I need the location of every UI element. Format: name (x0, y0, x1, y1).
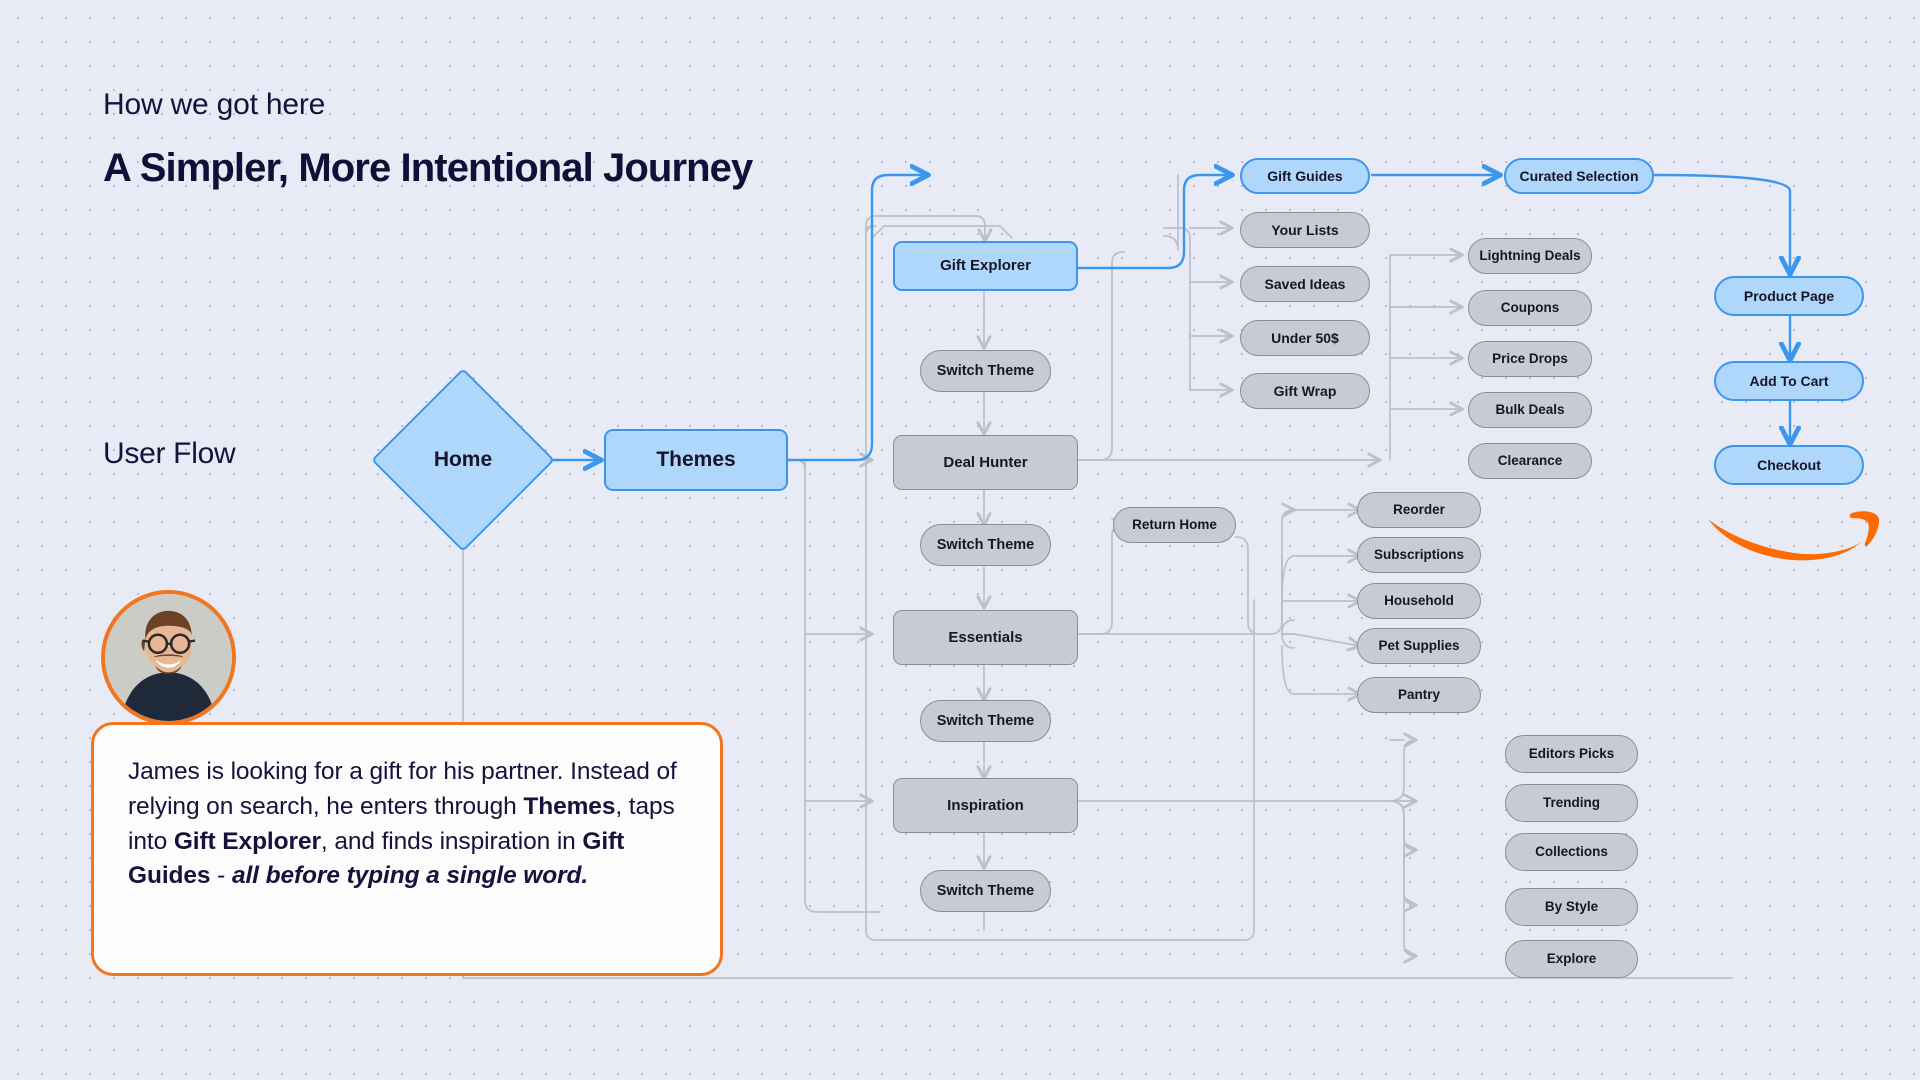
flow-node-subscriptions-label: Subscriptions (1374, 547, 1464, 563)
flow-node-trending[interactable]: Trending (1505, 784, 1638, 822)
flow-node-reorder-label: Reorder (1393, 502, 1445, 518)
flow-node-lightning-deals-label: Lightning Deals (1479, 248, 1580, 264)
flow-node-clearance[interactable]: Clearance (1468, 443, 1592, 479)
flow-node-return-home[interactable]: Return Home (1113, 507, 1236, 543)
flow-node-home[interactable]: Home (398, 395, 528, 525)
flow-node-explore[interactable]: Explore (1505, 940, 1638, 978)
flow-node-coupons-label: Coupons (1501, 300, 1560, 316)
flow-node-price-drops-label: Price Drops (1492, 351, 1568, 367)
flow-node-switch-theme-2[interactable]: Switch Theme (920, 524, 1051, 566)
flow-node-themes-label: Themes (656, 448, 735, 472)
callout-italic-emphasis: all before typing a single word. (232, 862, 588, 889)
flow-node-switch-theme-4-label: Switch Theme (937, 883, 1035, 900)
callout-bold-gift-explorer: Gift Explorer (174, 828, 321, 855)
flow-node-editors-picks[interactable]: Editors Picks (1505, 735, 1638, 773)
flow-node-return-home-label: Return Home (1132, 517, 1217, 533)
flow-node-your-lists[interactable]: Your Lists (1240, 212, 1370, 248)
callout-part-4: - (210, 862, 231, 889)
flow-node-saved-ideas[interactable]: Saved Ideas (1240, 266, 1370, 302)
flow-node-switch-theme-2-label: Switch Theme (937, 537, 1035, 554)
flow-node-curated-selection[interactable]: Curated Selection (1504, 158, 1654, 194)
flow-node-coupons[interactable]: Coupons (1468, 290, 1592, 326)
flow-node-switch-theme-4[interactable]: Switch Theme (920, 870, 1051, 912)
flow-node-gift-guides-label: Gift Guides (1267, 168, 1342, 184)
flow-node-trending-label: Trending (1543, 795, 1600, 811)
persona-callout-text: James is looking for a gift for his part… (128, 755, 686, 894)
flow-node-add-to-cart-label: Add To Cart (1749, 373, 1828, 389)
flow-node-pet-supplies-label: Pet Supplies (1378, 638, 1459, 654)
flow-node-pantry-label: Pantry (1398, 687, 1440, 703)
flow-node-price-drops[interactable]: Price Drops (1468, 341, 1592, 377)
flow-node-gift-wrap-label: Gift Wrap (1274, 383, 1337, 399)
flow-node-gift-wrap[interactable]: Gift Wrap (1240, 373, 1370, 409)
flow-node-switch-theme-1[interactable]: Switch Theme (920, 350, 1051, 392)
flow-node-by-style[interactable]: By Style (1505, 888, 1638, 926)
flow-node-switch-theme-1-label: Switch Theme (937, 363, 1035, 380)
flow-node-gift-explorer-label: Gift Explorer (940, 257, 1031, 274)
avatar-illustration (105, 594, 232, 721)
flow-node-inspiration[interactable]: Inspiration (893, 778, 1078, 833)
flow-node-under-50[interactable]: Under 50$ (1240, 320, 1370, 356)
persona-callout-card: James is looking for a gift for his part… (91, 722, 723, 976)
flow-node-home-label: Home (398, 395, 528, 525)
flow-node-essentials-label: Essentials (948, 629, 1022, 646)
callout-part-3: , and finds inspiration in (321, 828, 583, 855)
callout-bold-themes: Themes (523, 793, 615, 820)
flow-node-household-label: Household (1384, 593, 1454, 609)
flow-node-clearance-label: Clearance (1498, 453, 1563, 469)
flow-node-explore-label: Explore (1547, 951, 1597, 967)
flow-node-switch-theme-3-label: Switch Theme (937, 713, 1035, 730)
flow-node-pantry[interactable]: Pantry (1357, 677, 1481, 713)
persona-avatar (101, 590, 236, 725)
flow-node-bulk-deals[interactable]: Bulk Deals (1468, 392, 1592, 428)
flow-node-curated-selection-label: Curated Selection (1519, 168, 1638, 184)
flow-node-product-page[interactable]: Product Page (1714, 276, 1864, 316)
flow-node-gift-guides[interactable]: Gift Guides (1240, 158, 1370, 194)
flow-node-deal-hunter[interactable]: Deal Hunter (893, 435, 1078, 490)
flow-node-collections-label: Collections (1535, 844, 1608, 860)
flow-node-add-to-cart[interactable]: Add To Cart (1714, 361, 1864, 401)
flow-node-checkout-label: Checkout (1757, 457, 1821, 473)
flow-node-inspiration-label: Inspiration (947, 797, 1024, 814)
flow-node-essentials[interactable]: Essentials (893, 610, 1078, 665)
flow-node-under-50-label: Under 50$ (1271, 330, 1339, 346)
flow-node-by-style-label: By Style (1545, 899, 1598, 915)
flow-node-your-lists-label: Your Lists (1271, 222, 1338, 238)
flow-node-product-page-label: Product Page (1744, 288, 1834, 304)
flow-node-gift-explorer[interactable]: Gift Explorer (893, 241, 1078, 291)
flow-node-editors-picks-label: Editors Picks (1529, 746, 1615, 762)
flow-node-pet-supplies[interactable]: Pet Supplies (1357, 628, 1481, 664)
flow-node-deal-hunter-label: Deal Hunter (943, 454, 1027, 471)
flow-node-themes[interactable]: Themes (604, 429, 788, 491)
amazon-smile-logo (1702, 505, 1882, 573)
flow-node-checkout[interactable]: Checkout (1714, 445, 1864, 485)
flow-node-household[interactable]: Household (1357, 583, 1481, 619)
flow-node-collections[interactable]: Collections (1505, 833, 1638, 871)
flow-node-reorder[interactable]: Reorder (1357, 492, 1481, 528)
flow-node-saved-ideas-label: Saved Ideas (1265, 276, 1346, 292)
flow-node-switch-theme-3[interactable]: Switch Theme (920, 700, 1051, 742)
flow-node-subscriptions[interactable]: Subscriptions (1357, 537, 1481, 573)
flow-node-bulk-deals-label: Bulk Deals (1495, 402, 1564, 418)
flow-node-lightning-deals[interactable]: Lightning Deals (1468, 238, 1592, 274)
